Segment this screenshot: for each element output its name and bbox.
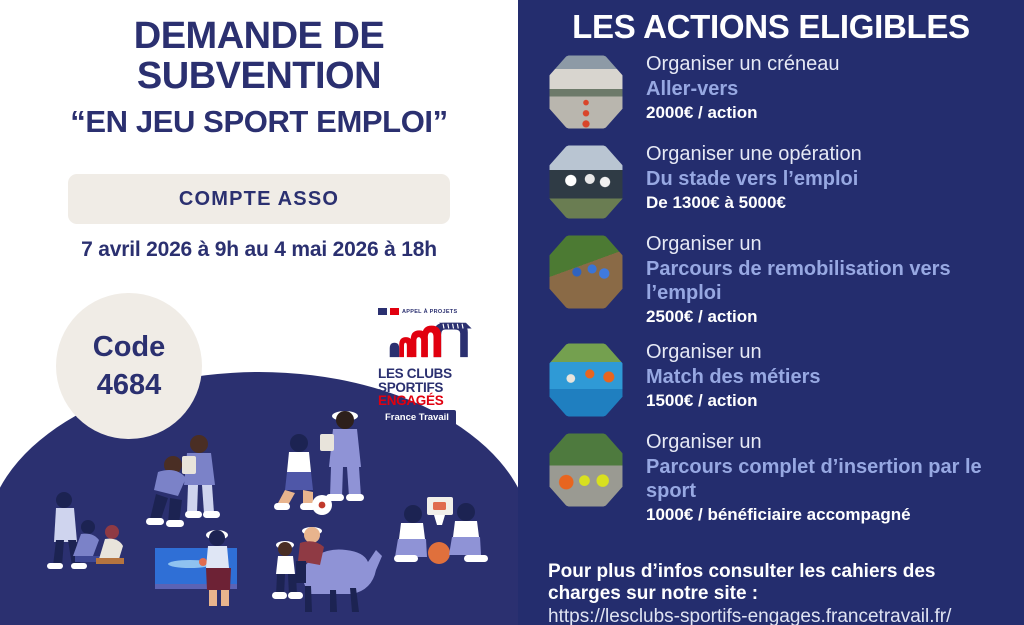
logo-appel-label: APPEL À PROJETS xyxy=(402,309,457,315)
action-lead: Organiser un xyxy=(646,232,1014,257)
action-lead: Organiser un créneau xyxy=(646,52,839,77)
code-label: Code xyxy=(93,328,166,366)
action-price: 1000€ / bénéficiaire accompagné xyxy=(646,503,1014,526)
list-item: Organiser une opération Du stade vers l’… xyxy=(518,142,1024,232)
figure-basketball xyxy=(394,497,488,564)
action-price: 2000€ / action xyxy=(646,101,839,124)
figure-coach-clipboard xyxy=(320,411,364,501)
photo-creneau-aller-vers-thumbnail xyxy=(548,54,624,130)
page-title-line2: SUBVENTION xyxy=(0,56,518,96)
logo-line-3: ENGAGÉS xyxy=(378,394,482,408)
action-lead: Organiser un xyxy=(646,340,821,365)
action-price: 2500€ / action xyxy=(646,305,1014,328)
poster: DEMANDE DE SUBVENTION “EN JEU SPORT EMPL… xyxy=(0,0,1024,625)
left-panel: DEMANDE DE SUBVENTION “EN JEU SPORT EMPL… xyxy=(0,0,518,625)
photo-du-stade-vers-lemploi-thumbnail xyxy=(548,144,624,220)
compte-asso-label: COMPTE ASSO xyxy=(179,188,339,211)
page-title-line1: DEMANDE DE xyxy=(0,16,518,56)
action-name: Aller-vers xyxy=(646,77,839,101)
action-price: 1500€ / action xyxy=(646,389,821,412)
action-name: Match des métiers xyxy=(646,365,821,389)
figure-coach-pool xyxy=(206,530,231,606)
action-lead: Organiser un xyxy=(646,430,1014,455)
figure-bending xyxy=(146,456,186,527)
compte-asso-badge[interactable]: COMPTE ASSO xyxy=(68,174,450,224)
photo-parcours-complet-insertion-thumbnail xyxy=(548,432,624,508)
figure-seated-b xyxy=(96,525,124,564)
list-item: Organiser un créneau Aller-vers 2000€ / … xyxy=(518,52,1024,142)
code-bubble: Code 4684 xyxy=(56,293,202,439)
logo-france-travail-badge: France Travail xyxy=(378,410,456,427)
footer-line-2: charges sur notre site : xyxy=(548,583,1024,605)
photo-match-des-metiers-thumbnail xyxy=(548,342,624,418)
action-name: Parcours de remobilisation vers l’emploi xyxy=(646,257,1014,305)
submission-dates: 7 avril 2026 à 9h au 4 mai 2026 à 18h xyxy=(0,238,518,262)
footer-url-link[interactable]: https://lesclubs-sportifs-engages.france… xyxy=(548,605,1024,625)
logo-line-1: LES CLUBS xyxy=(378,367,482,381)
figure-equestrian xyxy=(272,527,382,612)
eligible-actions-list: Organiser un créneau Aller-vers 2000€ / … xyxy=(518,52,1024,538)
footer-info: Pour plus d’infos consulter les cahiers … xyxy=(548,561,1024,625)
logo-wordmark: LES CLUBS SPORTIFS ENGAGÉS France Travai… xyxy=(378,367,482,426)
right-panel: LES ACTIONS ELIGIBLES Organiser un créne… xyxy=(518,0,1024,625)
action-price: De 1300€ à 5000€ xyxy=(646,191,862,214)
list-item: Organiser un Parcours de remobilisation … xyxy=(518,232,1024,340)
flag-red-icon xyxy=(390,308,399,315)
figure-with-tablet xyxy=(182,435,220,518)
logo-line-2: SPORTIFS xyxy=(378,381,482,395)
footer-line-1: Pour plus d’infos consulter les cahiers … xyxy=(548,561,1024,583)
list-item: Organiser un Parcours complet d’insertio… xyxy=(518,430,1024,538)
code-value: 4684 xyxy=(97,366,162,404)
action-name: Du stade vers l’emploi xyxy=(646,167,862,191)
photo-parcours-remobilisation-thumbnail xyxy=(548,234,624,310)
list-item: Organiser un Match des métiers 1500€ / a… xyxy=(518,340,1024,430)
logo-mark-icon xyxy=(384,319,475,359)
action-lead: Organiser une opération xyxy=(646,142,862,167)
title-block: DEMANDE DE SUBVENTION “EN JEU SPORT EMPL… xyxy=(0,16,518,139)
logo-appel-row: APPEL À PROJETS xyxy=(378,308,482,315)
flag-blue-icon xyxy=(378,308,387,315)
eligible-actions-title: LES ACTIONS ELIGIBLES xyxy=(518,8,1024,46)
page-subtitle: “EN JEU SPORT EMPLOI” xyxy=(0,105,518,139)
action-name: Parcours complet d’insertion par le spor… xyxy=(646,455,1014,503)
logo-clubs-sportifs-engages: APPEL À PROJETS LES CLUBS SPORTIFS ENGAG… xyxy=(378,308,482,426)
